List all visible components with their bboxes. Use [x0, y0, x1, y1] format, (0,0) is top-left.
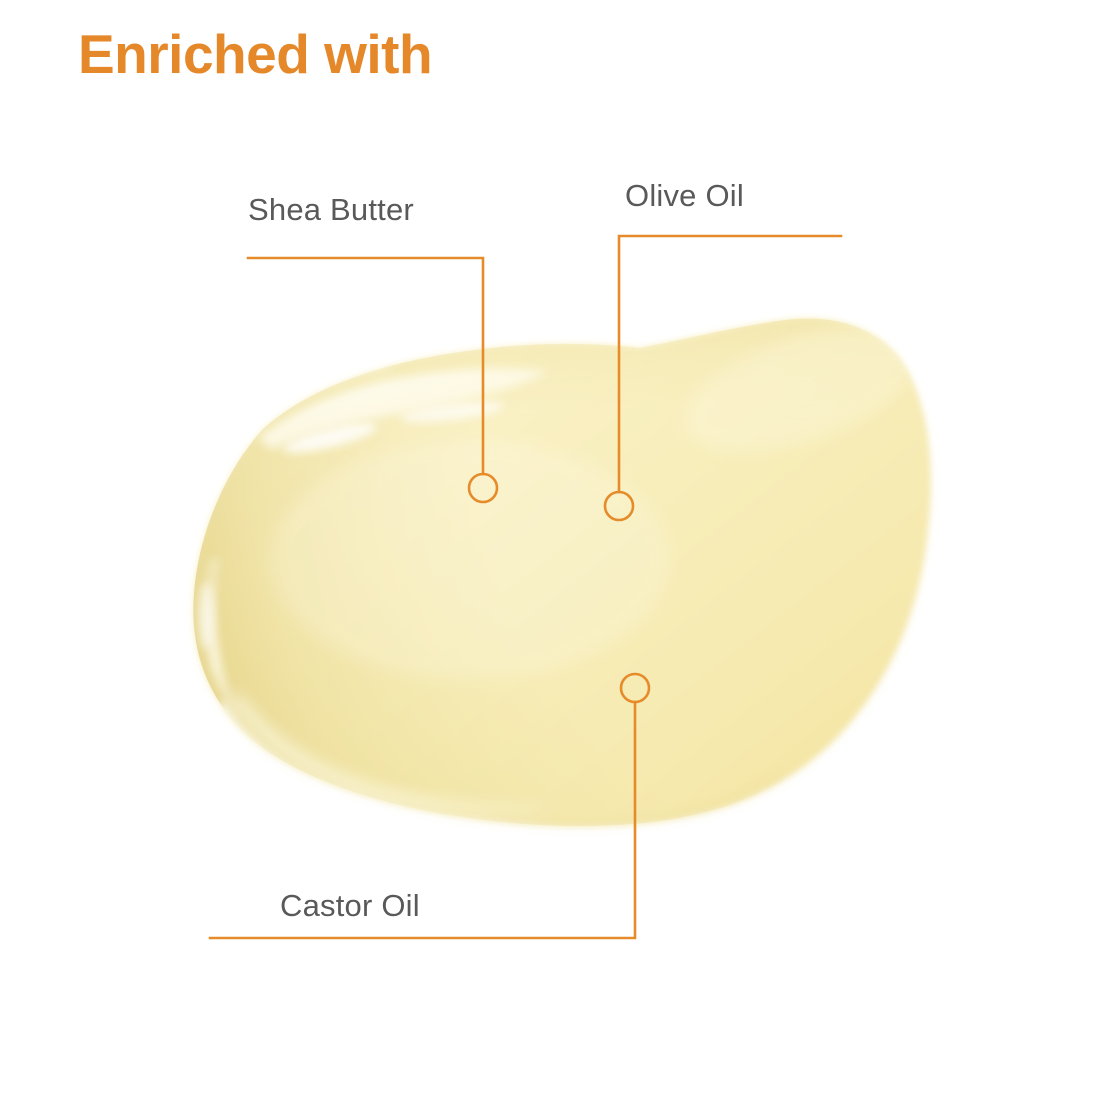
ingredient-label-castor-oil: Castor Oil	[280, 888, 420, 924]
callout-line-olive-oil	[619, 236, 841, 492]
callout-line-castor-oil	[210, 702, 635, 938]
promo-graphic: Enriched with Shea Butter Olive Oil Cast…	[0, 0, 1100, 1100]
ingredient-label-shea-butter: Shea Butter	[248, 192, 414, 228]
callout-marker-olive-oil	[605, 492, 633, 520]
callout-line-shea-butter	[248, 258, 483, 474]
ingredient-label-olive-oil: Olive Oil	[625, 178, 744, 214]
callout-marker-shea-butter	[469, 474, 497, 502]
page-title: Enriched with	[78, 24, 432, 85]
callout-marker-castor-oil	[621, 674, 649, 702]
callout-lines	[0, 0, 1100, 1100]
